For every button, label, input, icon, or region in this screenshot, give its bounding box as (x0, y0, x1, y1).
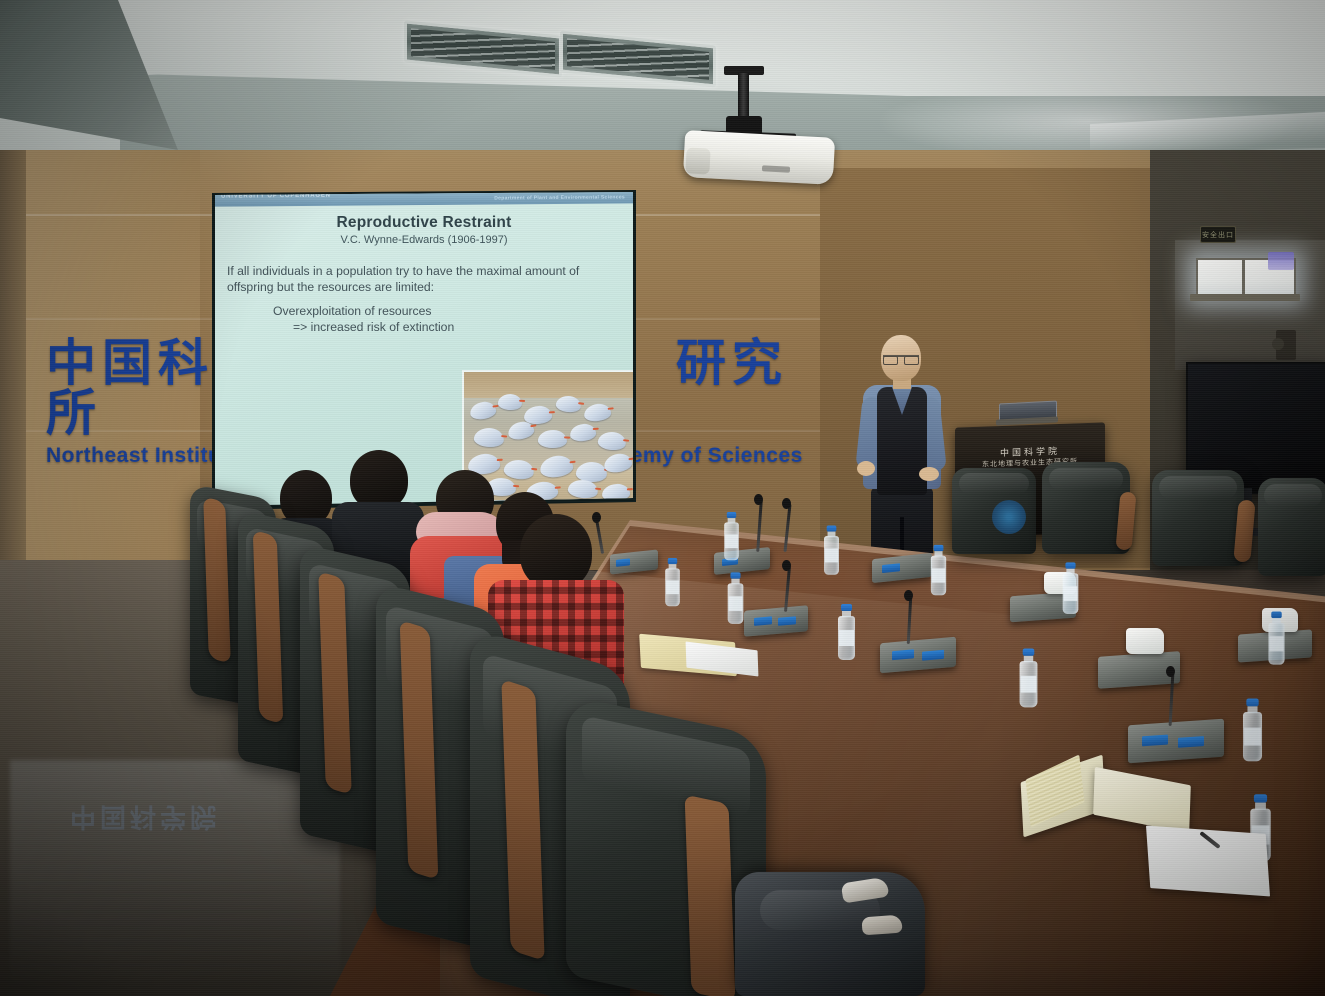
slide-paragraph-1: If all individuals in a population try t… (227, 264, 621, 296)
microphone-head-icon (782, 560, 791, 571)
water-bottle (1020, 649, 1038, 710)
microphone-head-icon (754, 494, 763, 505)
microphone-head-icon (592, 512, 601, 523)
water-bottle (931, 545, 946, 597)
presenter-hand-right (919, 467, 939, 481)
window-sill (1190, 294, 1300, 301)
water-bottle (724, 512, 739, 562)
water-bottle (1063, 562, 1079, 615)
projector-lens-icon (685, 147, 710, 174)
exit-sign-label: 安全出口 (1201, 227, 1235, 242)
presenter-hand-left (857, 461, 875, 476)
photo-background (464, 372, 633, 398)
floor-reflection (10, 760, 340, 990)
microphone-head-icon (904, 590, 913, 601)
slide-subtitle: V.C. Wynne-Edwards (1906-1997) (215, 234, 633, 246)
wall-camera-icon (1272, 338, 1284, 350)
chair-armrest (685, 794, 736, 996)
microphone-head-icon (1166, 666, 1175, 677)
executive-chair (1152, 470, 1244, 566)
bird-shape (597, 431, 627, 452)
bird-shape (469, 400, 497, 420)
water-bottle (728, 572, 744, 625)
water-bottle (1243, 699, 1262, 764)
water-bottle (665, 558, 680, 608)
bird-shape (583, 403, 612, 423)
slide-banner-department: Department of Plant and Environmental Sc… (494, 194, 625, 201)
bird-shape (473, 427, 505, 449)
shoe (861, 915, 902, 936)
exit-sign: 安全出口 (1200, 226, 1236, 243)
window-mullion (1242, 258, 1245, 294)
attendee-head (350, 450, 408, 510)
executive-chair (1258, 478, 1325, 576)
presenter (845, 335, 955, 565)
projection-screen: UNIVERSITY OF COPENHAGEN Department of P… (215, 192, 633, 506)
slide-title: Reproductive Restraint (215, 214, 633, 232)
glasses-icon (883, 355, 919, 364)
attendee-head (520, 514, 592, 590)
lecture-room-photo: 中国科学院 研究所 Northeast Institute Academy of… (0, 0, 1325, 996)
chair-emblem-cas (992, 500, 1026, 534)
bird-shape (538, 429, 568, 448)
notebook-right-page (1093, 767, 1191, 833)
slide-paragraph-3: => increased risk of extinction (293, 320, 633, 334)
projector-mount-pole (738, 73, 749, 119)
floor-reflected-signage: 中国科学院 (70, 800, 300, 837)
conference-microphone-unit[interactable] (1128, 719, 1224, 764)
tissue-box (1126, 628, 1164, 654)
water-bottle (824, 525, 839, 576)
water-bottle (1268, 611, 1284, 666)
slide-paragraph-2: Overexploitation of resources (273, 304, 633, 318)
water-bottle (838, 604, 855, 662)
window-blue-glare (1268, 252, 1294, 270)
bird-shape (569, 423, 596, 442)
wall-column-left (0, 150, 26, 580)
microphone-head-icon (782, 498, 791, 509)
wall-sign-en-left: Northeast Institute (46, 444, 241, 467)
